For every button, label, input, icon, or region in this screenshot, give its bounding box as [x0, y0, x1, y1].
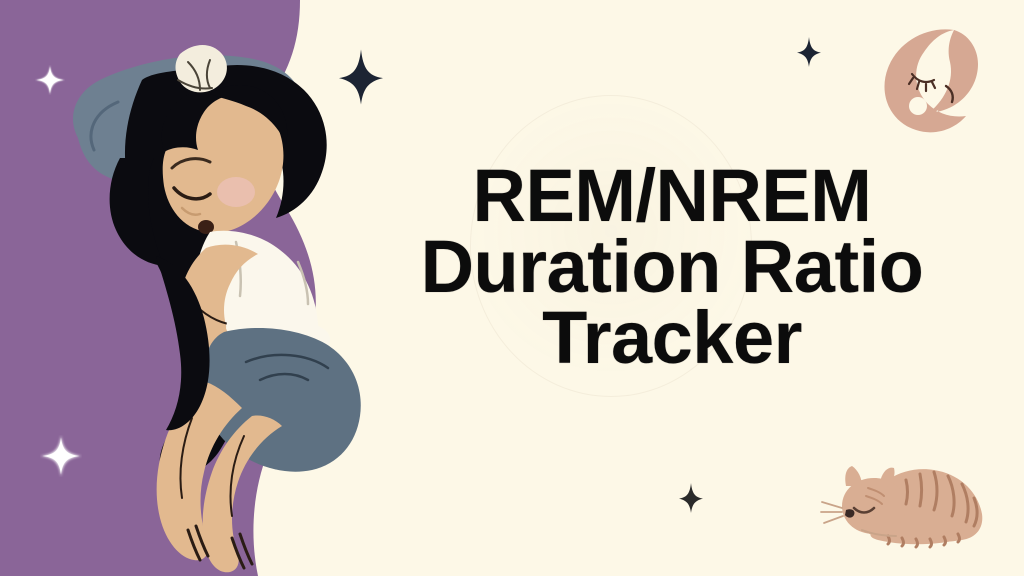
- moon-crater: [909, 97, 927, 115]
- star-dark-top-right-icon: [796, 37, 822, 67]
- page-title: REM/NREM Duration Ratio Tracker: [352, 160, 992, 373]
- crescent-moon-illustration: [868, 24, 980, 132]
- cheek-blush: [217, 177, 255, 207]
- title-line-3: Tracker: [352, 302, 992, 373]
- title-line-2: Duration Ratio: [352, 231, 992, 302]
- star-white-top-left-icon: [35, 65, 65, 95]
- star-dark-top-center-icon: [339, 48, 383, 106]
- sleeping-cat-svg: [818, 452, 994, 552]
- star-dark-bottom-center-icon: [678, 483, 704, 513]
- banner-canvas: REM/NREM Duration Ratio Tracker: [0, 0, 1024, 576]
- title-line-1: REM/NREM: [352, 160, 992, 231]
- cat-whiskers: [821, 502, 843, 523]
- sleeping-cat-illustration: [818, 452, 994, 552]
- crescent-moon-svg: [868, 24, 980, 132]
- star-white-bottom-left-icon: [40, 435, 82, 477]
